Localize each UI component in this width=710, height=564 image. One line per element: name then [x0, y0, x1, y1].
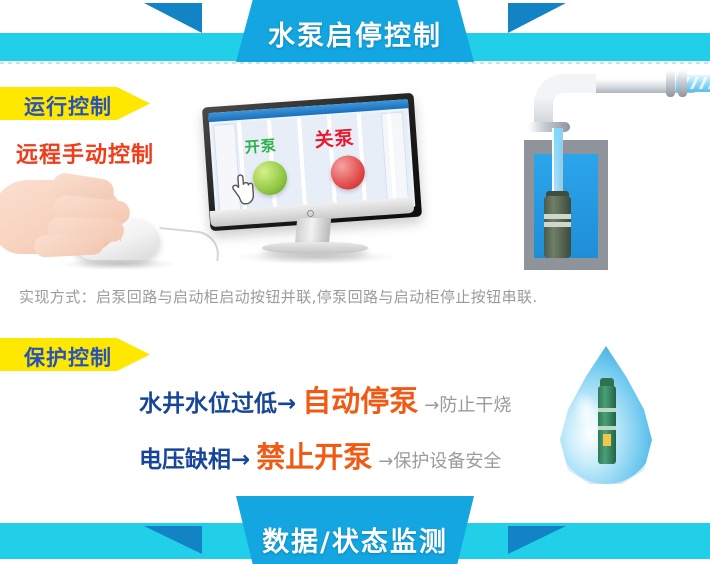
water-droplet-with-pump-icon [548, 346, 664, 486]
pump-band-lower [544, 222, 571, 227]
stop-pump-label: 关泵 [313, 123, 355, 153]
droplet-pump-label [603, 434, 611, 446]
rule-result: →保护设备安全 [378, 451, 501, 472]
rule-condition: 水井水位过低→ [139, 391, 296, 417]
run-control-tag-label: 运行控制 [24, 91, 112, 121]
finger-little [33, 232, 104, 258]
hand-pointer-icon [227, 172, 259, 208]
rule-condition: 电压缺相→ [139, 447, 250, 473]
header-banner: 水泵启停控制 [0, 0, 710, 68]
rule-action: 自动停泵 [302, 384, 418, 418]
remote-manual-control-label: 远程手动控制 [16, 137, 154, 169]
pipe-flange-left [666, 70, 675, 97]
monitor-stand-base [262, 242, 368, 254]
rule-result: →防止干烧 [424, 395, 511, 416]
protection-rule-row: 电压缺相→禁止开泵→保护设备安全 [139, 434, 501, 476]
start-pump-label: 开泵 [244, 134, 277, 157]
hand-on-mouse-icon [0, 178, 194, 273]
well-top-edge [534, 140, 598, 154]
footer-title: 数据/状态监测 [0, 520, 710, 559]
protection-control-tag-label: 保护控制 [24, 342, 112, 372]
protection-control-tag: 保护控制 [0, 338, 150, 371]
wellhead-flange [528, 122, 570, 132]
droplet-pump-body [598, 386, 616, 464]
submersible-pump-in-well-icon [506, 62, 710, 277]
droplet-pump-band-lower [598, 426, 616, 430]
page-root: 水泵启停控制 运行控制 远程手动控制 开泵 关泵 [0, 0, 710, 564]
run-control-tag: 运行控制 [0, 87, 150, 120]
rule-action: 禁止开泵 [256, 440, 372, 474]
protection-rule-row: 水井水位过低→自动停泵→防止干烧 [139, 378, 511, 420]
page-title: 水泵启停控制 [0, 14, 710, 53]
pipe-flange-right [678, 70, 687, 97]
droplet-pump-band-upper [598, 408, 616, 412]
pump-band-upper [544, 214, 571, 219]
footer-banner: 数据/状态监测 [0, 496, 710, 564]
desktop-monitor: 开泵 关泵 [196, 100, 426, 265]
implementation-note: 实现方式：启泵回路与启动柜启动按钮并联,停泵回路与启动柜停止按钮串联. [19, 286, 538, 307]
submersible-pump-body [544, 196, 571, 258]
